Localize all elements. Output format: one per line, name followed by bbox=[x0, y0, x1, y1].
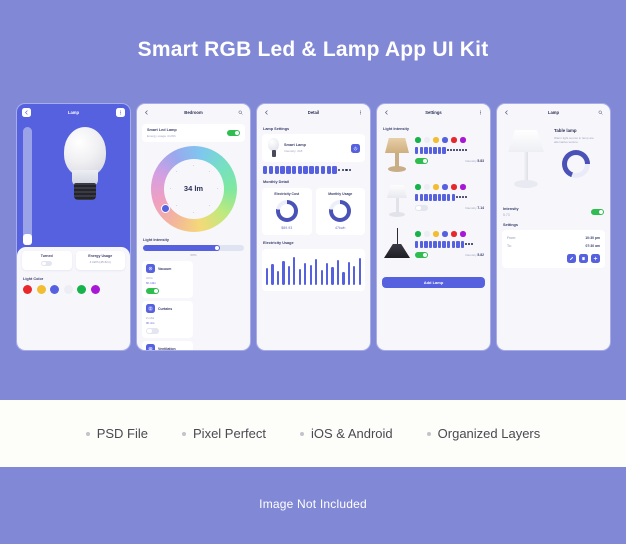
lamp-subtitle: Intensity: 218 bbox=[284, 149, 306, 153]
lamp-row-table[interactable]: Intensity 5.83 bbox=[377, 131, 490, 178]
bottom-sheet: Turned Energy Usage 4 kWh (45.6/m) Light… bbox=[17, 247, 130, 350]
donut-cost-ring bbox=[276, 200, 298, 222]
lamp-name: Smart Lamp bbox=[284, 143, 306, 147]
color-dot[interactable] bbox=[415, 137, 421, 143]
phone-screen-detail: Detail Lamp Settings Smart Lamp Intensit… bbox=[256, 103, 371, 351]
chart-bar bbox=[277, 271, 279, 285]
delete-icon[interactable] bbox=[579, 254, 588, 263]
device-tiles: Vacuum 4 hrs 6h 10m Curtains 2 mbs 0h 4m bbox=[137, 257, 250, 351]
tile-vacuum[interactable]: Vacuum 4 hrs 6h 10m bbox=[142, 261, 193, 298]
table-lamp-toggle[interactable] bbox=[415, 158, 428, 165]
chart-bar bbox=[288, 266, 290, 285]
screen5-title: Lamp bbox=[497, 110, 610, 115]
pendant-lamp-toggle[interactable] bbox=[415, 252, 428, 259]
white-lamp-intensity: Intensity 7.14 bbox=[465, 206, 484, 210]
color-dot[interactable] bbox=[424, 231, 430, 237]
intensity-row: Intensity 5.73 bbox=[497, 202, 610, 217]
bullet-icon bbox=[427, 432, 431, 436]
bullet-icon bbox=[300, 432, 304, 436]
edit-icon[interactable] bbox=[567, 254, 576, 263]
color-dot[interactable] bbox=[415, 184, 421, 190]
color-dot[interactable] bbox=[460, 184, 466, 190]
tile-curtains[interactable]: Curtains 2 mbs 0h 4m bbox=[142, 301, 193, 338]
tab-energy-label: Energy Usage bbox=[78, 254, 124, 258]
lamp-card[interactable]: Smart Lamp Intensity: 218 bbox=[262, 134, 365, 162]
color-dot[interactable] bbox=[424, 137, 430, 143]
color-dot[interactable] bbox=[460, 137, 466, 143]
search-icon[interactable] bbox=[236, 108, 245, 117]
screen1-title: Lamp bbox=[17, 110, 130, 115]
schedule-to-value: 07:30 am bbox=[585, 244, 600, 248]
color-dot[interactable] bbox=[451, 231, 457, 237]
feature-pixel-perfect: Pixel Perfect bbox=[182, 426, 266, 441]
color-dot[interactable] bbox=[442, 184, 448, 190]
color-dot[interactable] bbox=[442, 231, 448, 237]
feature-ios-android: iOS & Android bbox=[300, 426, 393, 441]
table-lamp-colors bbox=[415, 134, 484, 143]
lamp-power-button[interactable] bbox=[351, 144, 360, 153]
schedule-from-row[interactable]: From: 10:30 pm bbox=[507, 234, 600, 242]
feature-label: iOS & Android bbox=[311, 426, 393, 441]
pendant-lamp-colors bbox=[415, 228, 484, 237]
device-toggle[interactable] bbox=[227, 130, 240, 137]
screen2-body: Smart Led Lamp Energy usage 4 kWh 34 lm bbox=[137, 121, 250, 350]
lamp-power-toggle[interactable] bbox=[591, 209, 604, 216]
slider-knob[interactable] bbox=[23, 234, 32, 245]
white-lamp-illustration bbox=[383, 181, 411, 225]
screen1-header: Lamp bbox=[17, 104, 130, 121]
search-icon[interactable] bbox=[596, 108, 605, 117]
lamp-row-white[interactable]: Intensity 7.14 bbox=[377, 178, 490, 225]
color-dot[interactable] bbox=[433, 184, 439, 190]
feature-organized-layers: Organized Layers bbox=[427, 426, 541, 441]
lamp-name: Table lamp bbox=[554, 128, 605, 133]
feature-label: PSD File bbox=[97, 426, 148, 441]
device-name: Smart Led Lamp bbox=[147, 128, 177, 132]
status-tabs: Turned Energy Usage 4 kWh (45.6/m) bbox=[17, 247, 130, 270]
donut-usage-title: Monthly Usage bbox=[319, 192, 363, 196]
color-wheel-knob[interactable] bbox=[161, 204, 170, 213]
color-dot[interactable] bbox=[424, 184, 430, 190]
back-icon[interactable] bbox=[262, 108, 271, 117]
electricity-usage-chart bbox=[262, 249, 365, 291]
bulb-base bbox=[74, 183, 96, 200]
feature-label: Pixel Perfect bbox=[193, 426, 266, 441]
screen3-title: Detail bbox=[257, 110, 370, 115]
tile-vacuum-label: Vacuum bbox=[158, 267, 171, 271]
schedule-from-label: From: bbox=[507, 236, 516, 240]
feature-label: Organized Layers bbox=[438, 426, 541, 441]
white-lamp-segments[interactable] bbox=[415, 194, 484, 201]
screen2-header: Bedroom bbox=[137, 104, 250, 121]
swatch-blue[interactable] bbox=[50, 285, 59, 294]
power-toggle[interactable] bbox=[41, 261, 52, 267]
chart-bar bbox=[266, 268, 268, 285]
lamp-description: Warm light source in lamp are alternativ… bbox=[554, 136, 605, 145]
add-lamp-button[interactable]: Add Lamp bbox=[382, 277, 485, 288]
phone-screen-lamp-home: Lamp 68% Turned bbox=[16, 103, 131, 351]
color-dot[interactable] bbox=[460, 231, 466, 237]
color-swatch-list bbox=[17, 281, 130, 294]
table-lamp-illustration bbox=[383, 134, 411, 178]
intensity-value: 5.73 bbox=[503, 213, 519, 217]
tab-energy-usage[interactable]: Energy Usage 4 kWh (45.6/m) bbox=[76, 251, 126, 270]
table-lamp-segments[interactable] bbox=[415, 147, 484, 154]
screen2-title: Bedroom bbox=[137, 110, 250, 115]
lamp-settings-label: Lamp Settings bbox=[257, 121, 370, 131]
tab-turned-label: Turned bbox=[24, 254, 70, 258]
color-dot[interactable] bbox=[451, 184, 457, 190]
light-color-label: Light Color bbox=[17, 270, 130, 281]
white-lamp-intensity-label: Intensity bbox=[465, 206, 477, 210]
lamp-level-segments[interactable] bbox=[263, 166, 364, 174]
donut-usage-value: 47kwh bbox=[319, 226, 363, 230]
pendant-lamp-intensity: Intensity 5.82 bbox=[465, 253, 484, 257]
tab-turned[interactable]: Turned bbox=[22, 251, 72, 270]
bullet-icon bbox=[182, 432, 186, 436]
lamp-hero: Table lamp Warm light source in lamp are… bbox=[497, 121, 610, 202]
feature-band: PSD File Pixel Perfect iOS & Android Org… bbox=[0, 400, 626, 467]
color-dot[interactable] bbox=[451, 137, 457, 143]
phone-screen-bedroom: Bedroom Smart Led Lamp Energy usage 4 kW… bbox=[136, 103, 251, 351]
chart-bar bbox=[326, 263, 328, 285]
device-card[interactable]: Smart Led Lamp Energy usage 4 kWh bbox=[142, 124, 245, 142]
phone-screen-settings: Settings Light Intensity bbox=[376, 103, 491, 351]
back-icon[interactable] bbox=[22, 108, 31, 117]
ventilation-icon bbox=[146, 344, 155, 350]
back-icon[interactable] bbox=[382, 108, 391, 117]
intensity-slider[interactable] bbox=[143, 245, 244, 251]
feature-psd-file: PSD File bbox=[86, 426, 148, 441]
bullet-icon bbox=[86, 432, 90, 436]
screen3-body: Lamp Settings Smart Lamp Intensity: 218 bbox=[257, 121, 370, 350]
schedule-card: From: 10:30 pm To: 07:30 am bbox=[502, 230, 605, 268]
tile-vacuum-toggle[interactable] bbox=[146, 288, 159, 295]
chart-bar bbox=[337, 260, 339, 285]
lamp-row-pendant[interactable]: Intensity 5.82 bbox=[377, 225, 490, 272]
chart-bar bbox=[304, 263, 306, 286]
color-wheel-center: 34 lm bbox=[164, 159, 224, 219]
intensity-label: Intensity bbox=[503, 207, 519, 211]
swatch-white[interactable] bbox=[64, 285, 73, 294]
chart-bar bbox=[271, 264, 273, 285]
schedule-actions bbox=[507, 254, 600, 263]
vacuum-icon bbox=[146, 264, 155, 273]
donut-usage-ring bbox=[329, 200, 351, 222]
screen3-header: Detail bbox=[257, 104, 370, 121]
tile-vacuum-line2: 6h 10m bbox=[146, 281, 189, 285]
tile-vacuum-line1: 4 hrs bbox=[146, 276, 189, 280]
color-dot[interactable] bbox=[433, 231, 439, 237]
tile-curtains-line1: 2 mbs bbox=[146, 316, 189, 320]
color-dot[interactable] bbox=[415, 231, 421, 237]
screen5-header: Lamp bbox=[497, 104, 610, 121]
chart-bar bbox=[315, 259, 317, 285]
chart-bar bbox=[321, 270, 323, 285]
tile-ventilation-label: Ventilation bbox=[158, 347, 176, 351]
more-options-icon[interactable] bbox=[476, 108, 485, 117]
intensity-slider-fill bbox=[143, 245, 220, 251]
tile-curtains-toggle[interactable] bbox=[146, 328, 159, 335]
chart-bar bbox=[342, 272, 344, 285]
swatch-amber[interactable] bbox=[37, 285, 46, 294]
donut-monthly-usage[interactable]: Monthly Usage 47kwh bbox=[316, 188, 366, 235]
phone-mockups-row: Lamp 68% Turned bbox=[16, 103, 616, 351]
pendant-lamp-intensity-label: Intensity bbox=[465, 253, 477, 257]
monthly-detail-label: Monthly Detail bbox=[257, 174, 370, 184]
light-intensity-label: Light Intensity bbox=[137, 232, 250, 242]
intensity-dial[interactable] bbox=[562, 150, 590, 178]
settings-label: Settings bbox=[497, 217, 610, 227]
chart-bar bbox=[293, 257, 295, 285]
phone-screen-lamp-detail: Lamp Table lamp Warm light source in lam… bbox=[496, 103, 611, 351]
chart-bar bbox=[353, 266, 355, 285]
white-lamp-toggle[interactable] bbox=[415, 205, 428, 212]
chart-bar bbox=[359, 258, 361, 285]
monthly-donuts: Electricity Cost $89.93 Monthly Usage 47… bbox=[257, 184, 370, 235]
tile-ventilation[interactable]: Ventilation bbox=[142, 341, 193, 351]
screen4-title: Settings bbox=[377, 110, 490, 115]
tile-curtains-label: Curtains bbox=[158, 307, 172, 311]
back-icon[interactable] bbox=[142, 108, 151, 117]
settings-intensity-label: Light Intensity bbox=[377, 121, 490, 131]
swatch-green[interactable] bbox=[77, 285, 86, 294]
color-dot[interactable] bbox=[442, 137, 448, 143]
chart-bar bbox=[310, 265, 312, 285]
chart-bar bbox=[331, 267, 333, 285]
chart-bar bbox=[282, 261, 284, 285]
electricity-usage-label: Electricity Usage bbox=[257, 235, 370, 245]
pendant-lamp-segments[interactable] bbox=[415, 241, 484, 248]
donut-cost-value: $89.93 bbox=[265, 226, 309, 230]
tab-energy-value: 4 kWh (45.6/m) bbox=[78, 260, 124, 264]
donut-electricity-cost[interactable]: Electricity Cost $89.93 bbox=[262, 188, 312, 235]
chart-bar bbox=[348, 262, 350, 285]
screen1-body: 68% Turned Energy Usage 4 kWh (45.6/m) bbox=[17, 121, 130, 350]
swatch-purple[interactable] bbox=[91, 285, 100, 294]
color-dot[interactable] bbox=[433, 137, 439, 143]
tile-curtains-line2: 0h 4m bbox=[146, 321, 189, 325]
brightness-slider[interactable] bbox=[23, 127, 32, 245]
white-lamp-colors bbox=[415, 181, 484, 190]
more-options-icon[interactable] bbox=[116, 108, 125, 117]
schedule-from-value: 10:30 pm bbox=[585, 236, 600, 240]
table-lamp-intensity: Intensity 5.83 bbox=[465, 159, 484, 163]
add-icon[interactable] bbox=[591, 254, 600, 263]
page-title: Smart RGB Led & Lamp App UI Kit bbox=[0, 0, 626, 100]
screen4-header: Settings bbox=[377, 104, 490, 121]
table-lamp-intensity-value: 5.83 bbox=[477, 159, 484, 163]
swatch-red[interactable] bbox=[23, 285, 32, 294]
lumen-value: 34 lm bbox=[184, 184, 203, 193]
white-lamp-intensity-value: 7.14 bbox=[477, 206, 484, 210]
donut-cost-title: Electricity Cost bbox=[265, 192, 309, 196]
more-options-icon[interactable] bbox=[356, 108, 365, 117]
bulb-thumb-icon bbox=[267, 138, 280, 158]
bulb-illustration bbox=[50, 127, 120, 239]
screen5-body: Table lamp Warm light source in lamp are… bbox=[497, 121, 610, 350]
table-lamp-illustration bbox=[502, 124, 550, 202]
chart-bar bbox=[299, 269, 301, 285]
screen4-body: Light Intensity bbox=[377, 121, 490, 350]
table-lamp-intensity-label: Intensity bbox=[465, 159, 477, 163]
pendant-lamp-illustration bbox=[383, 228, 411, 272]
device-subtitle: Energy usage 4 kWh bbox=[147, 134, 177, 138]
color-wheel[interactable]: 34 lm bbox=[151, 146, 237, 232]
curtains-icon bbox=[146, 304, 155, 313]
pendant-lamp-intensity-value: 5.82 bbox=[477, 253, 484, 257]
image-not-included-notice: Image Not Included bbox=[0, 487, 626, 521]
schedule-to-label: To: bbox=[507, 244, 512, 248]
back-icon[interactable] bbox=[502, 108, 511, 117]
schedule-to-row[interactable]: To: 07:30 am bbox=[507, 242, 600, 250]
